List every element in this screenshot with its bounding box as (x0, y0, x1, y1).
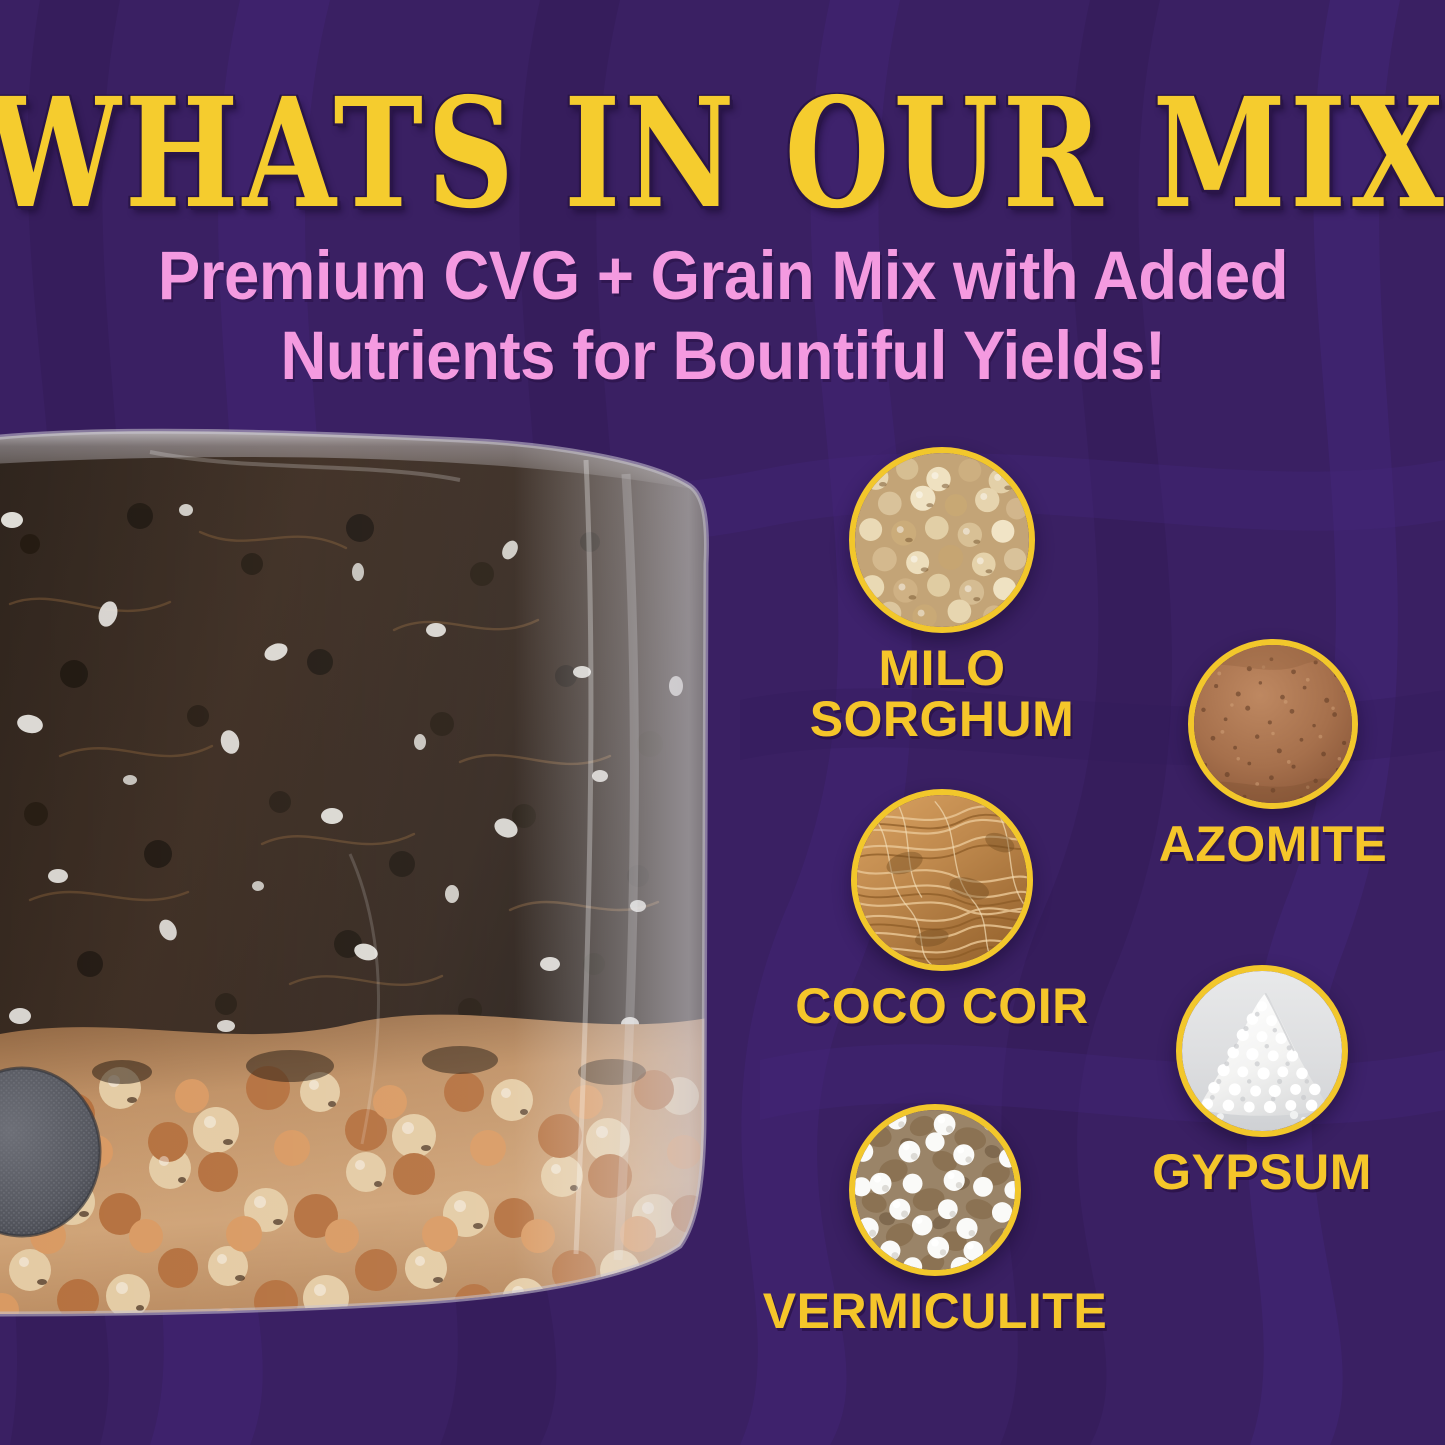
page-subtitle: Premium CVG + Grain Mix with Added Nutri… (78, 236, 1368, 396)
ingredient-label-gypsum: GYPSUM (1152, 1147, 1372, 1198)
coco-label-line-1: COCO COIR (795, 981, 1088, 1032)
ingredient-milo-sorghum[interactable]: MILO SORGHUM (849, 447, 1035, 633)
ingredient-label-azomite: AZOMITE (1159, 819, 1387, 870)
ingredient-label-milo-sorghum: MILO SORGHUM (810, 643, 1075, 745)
ingredient-gypsum[interactable]: GYPSUM (1176, 965, 1348, 1137)
vermiculite-label-line-1: VERMICULITE (763, 1286, 1107, 1337)
ingredient-coco-coir[interactable]: COCO COIR (851, 789, 1033, 971)
infographic-canvas: WHATS IN OUR MIX? Premium CVG + Grain Mi… (0, 0, 1445, 1445)
ingredient-label-vermiculite: VERMICULITE (763, 1286, 1107, 1337)
grow-bag-photo (0, 424, 718, 1324)
milo-label-line-2: SORGHUM (810, 694, 1075, 745)
page-title: WHATS IN OUR MIX? (0, 78, 1445, 229)
azomite-swatch (1188, 639, 1358, 809)
gypsum-swatch (1176, 965, 1348, 1137)
ingredient-vermiculite[interactable]: VERMICULITE (849, 1104, 1021, 1276)
vermiculite-swatch (849, 1104, 1021, 1276)
milo-label-line-1: MILO (810, 643, 1075, 694)
gypsum-label-line-1: GYPSUM (1152, 1147, 1372, 1198)
milo-sorghum-swatch (849, 447, 1035, 633)
azomite-label-line-1: AZOMITE (1159, 819, 1387, 870)
subtitle-line-2: Nutrients for Bountiful Yields! (129, 316, 1316, 396)
ingredient-azomite[interactable]: AZOMITE (1188, 639, 1358, 809)
ingredient-label-coco-coir: COCO COIR (795, 981, 1088, 1032)
coco-coir-swatch (851, 789, 1033, 971)
subtitle-line-1: Premium CVG + Grain Mix with Added (129, 236, 1316, 316)
